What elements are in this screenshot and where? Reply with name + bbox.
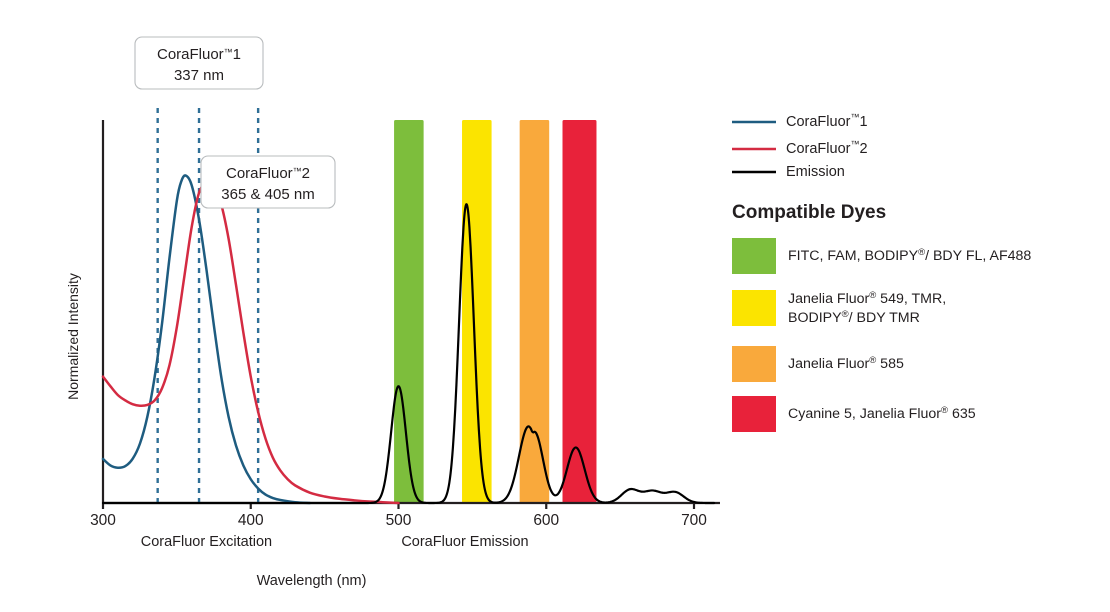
red-band (563, 120, 597, 503)
curve-corafluor2 (103, 180, 399, 503)
region-label-emission: CoraFluor Emission (401, 534, 528, 550)
dye-green-swatch (732, 238, 776, 274)
callout-corafluor-2-line2: 365 & 405 nm (221, 186, 314, 203)
legend-label-2: Emission (786, 164, 845, 180)
dye-band-layer (394, 120, 596, 503)
dye-orange-swatch (732, 346, 776, 382)
dye-orange-label-line-0: Janelia Fluor® 585 (788, 355, 904, 372)
callout-corafluor-2: CoraFluor™2365 & 405 nm (201, 156, 335, 208)
compatible-dyes-heading: Compatible Dyes (732, 202, 886, 223)
dye-yellow-label-line-1: BODIPY®/ BDY TMR (788, 309, 920, 326)
dye-yellow-label-line-0: Janelia Fluor® 549, TMR, (788, 290, 946, 307)
legend-label-1: CoraFluor™2 (786, 139, 868, 156)
callout-corafluor-1-line2: 337 nm (174, 67, 224, 84)
y-axis-label: Normalized Intensity (65, 273, 81, 400)
x-tick-label: 400 (238, 512, 264, 529)
x-tick-label: 700 (681, 512, 707, 529)
x-tick-label: 500 (386, 512, 412, 529)
legend-label-0: CoraFluor™1 (786, 112, 868, 129)
x-axis-label: Wavelength (nm) (257, 573, 367, 589)
curve-corafluor1 (103, 175, 310, 503)
dye-green-label-line-0: FITC, FAM, BODIPY®/ BDY FL, AF488 (788, 247, 1031, 264)
callout-corafluor-1: CoraFluor™1337 nm (135, 37, 263, 89)
dye-red-swatch (732, 396, 776, 432)
dye-red-label-line-0: Cyanine 5, Janelia Fluor® 635 (788, 405, 976, 422)
region-label-excitation: CoraFluor Excitation (141, 534, 272, 550)
legend-layer: CoraFluor™1CoraFluor™2EmissionCompatible… (732, 112, 1031, 432)
fluorescence-spectra-figure: 300400500600700 CoraFluor™1337 nmCoraFlu… (0, 0, 1110, 612)
callout-layer: CoraFluor™1337 nmCoraFluor™2365 & 405 nm (135, 37, 335, 208)
x-tick-label: 600 (533, 512, 559, 529)
green-band (394, 120, 424, 503)
dye-yellow-swatch (732, 290, 776, 326)
x-tick-label: 300 (90, 512, 116, 529)
yellow-band (462, 120, 492, 503)
orange-band (520, 120, 550, 503)
